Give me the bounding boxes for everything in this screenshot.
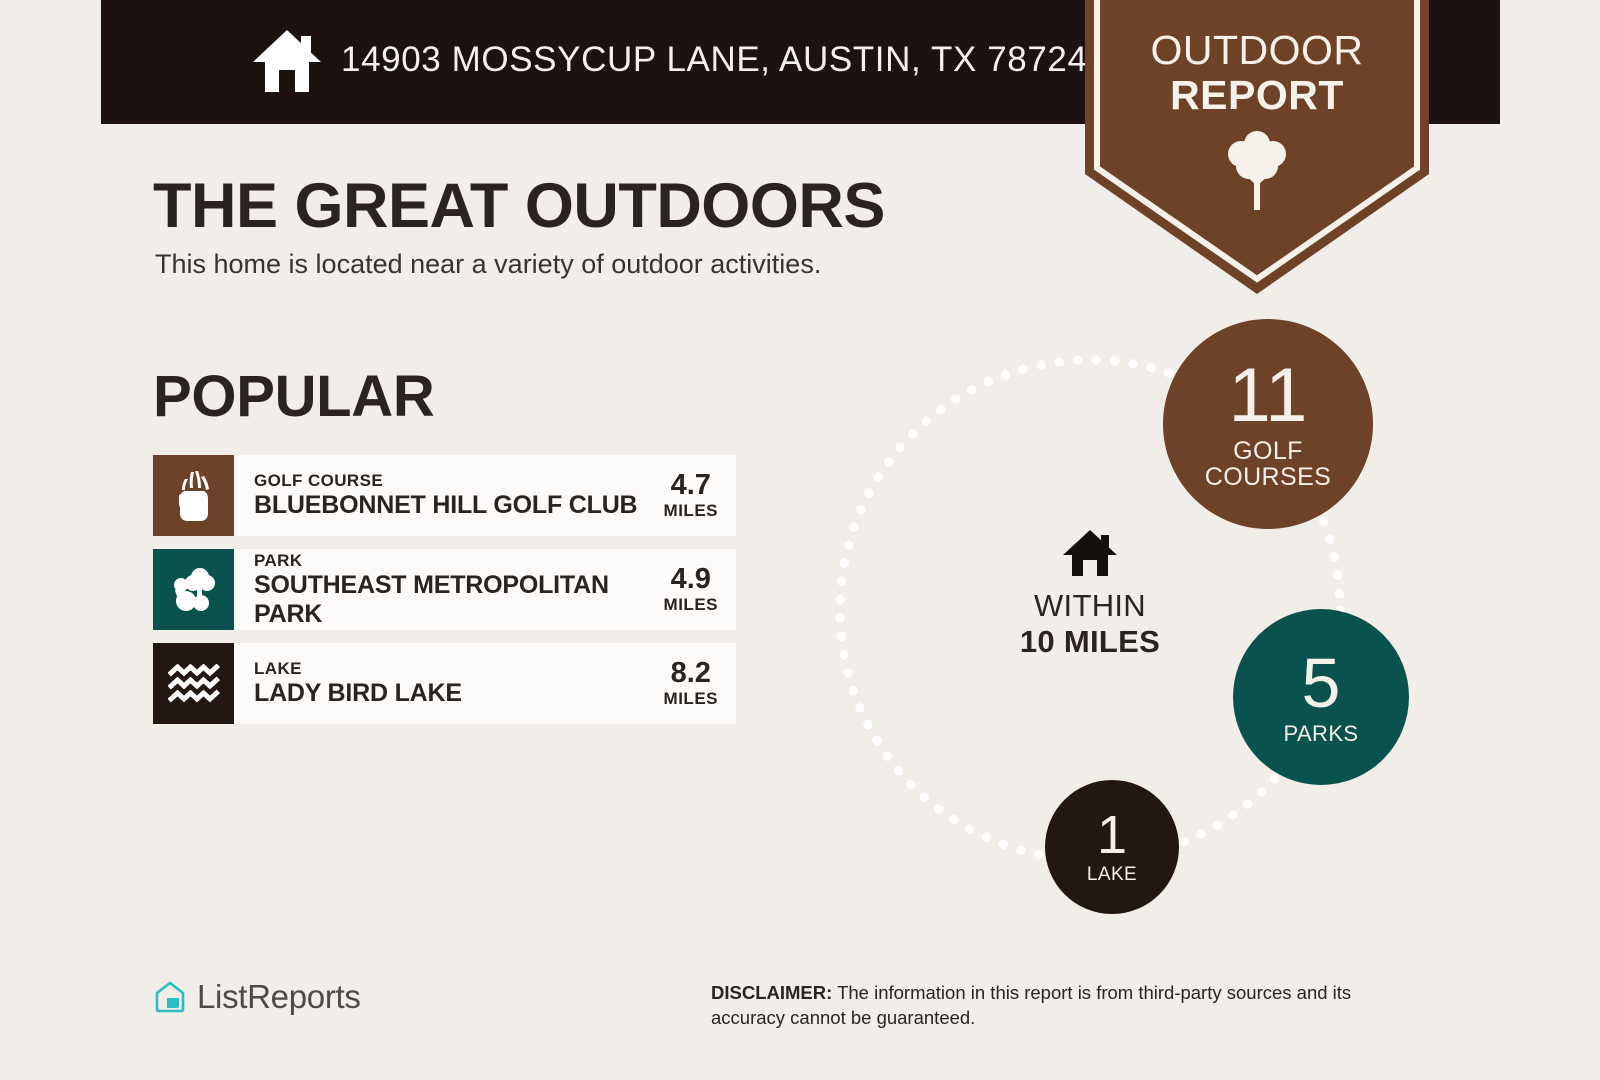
row-distance-unit: MILES bbox=[664, 501, 718, 521]
row-name: LADY BIRD LAKE bbox=[254, 679, 664, 708]
stat-label: PARKS bbox=[1284, 722, 1359, 745]
water-waves-icon bbox=[168, 664, 220, 704]
within-10-miles-diagram: WITHIN 10 MILES 11 GOLF COURSES 5 PARKS … bbox=[790, 300, 1430, 920]
house-icon bbox=[1061, 528, 1119, 578]
stat-count: 11 bbox=[1229, 358, 1308, 434]
row-distance-unit: MILES bbox=[664, 689, 718, 709]
row-category: LAKE bbox=[254, 659, 664, 679]
listreports-logo[interactable]: ListReports bbox=[153, 978, 361, 1016]
row-distance: 4.7 MILES bbox=[664, 455, 736, 536]
listreports-wordmark: ListReports bbox=[197, 978, 361, 1016]
stat-label-line-1: GOLF bbox=[1205, 438, 1331, 465]
row-category: GOLF COURSE bbox=[254, 471, 664, 491]
diagram-center-line-1: WITHIN bbox=[993, 588, 1187, 624]
page-title: THE GREAT OUTDOORS bbox=[153, 170, 885, 242]
listreports-house-icon bbox=[153, 980, 187, 1014]
left-margin bbox=[0, 0, 101, 1080]
stat-count: 5 bbox=[1302, 648, 1341, 718]
stat-label-line-2: COURSES bbox=[1205, 464, 1331, 491]
row-distance-value: 4.9 bbox=[671, 564, 711, 595]
disclaimer-label: DISCLAIMER: bbox=[711, 982, 832, 1003]
diagram-center-label: WITHIN 10 MILES bbox=[993, 528, 1187, 660]
outdoor-report-page: 14903 MOSSYCUP LANE, AUSTIN, TX 78724 OU… bbox=[0, 0, 1600, 1080]
row-distance-value: 4.7 bbox=[671, 470, 711, 501]
row-icon-tile bbox=[153, 549, 234, 630]
golf-bag-icon bbox=[171, 470, 217, 522]
row-icon-tile bbox=[153, 643, 234, 724]
row-distance-unit: MILES bbox=[664, 595, 718, 615]
row-distance: 8.2 MILES bbox=[664, 643, 736, 724]
list-item[interactable]: LAKE LADY BIRD LAKE 8.2 MILES bbox=[153, 643, 736, 724]
badge-line-1: OUTDOOR bbox=[1150, 27, 1363, 73]
list-item[interactable]: PARK SOUTHEAST METROPOLITAN PARK 4.9 MIL… bbox=[153, 549, 736, 630]
stat-count: 1 bbox=[1097, 808, 1127, 862]
tree-icon bbox=[1220, 128, 1294, 212]
list-item[interactable]: GOLF COURSE BLUEBONNET HILL GOLF CLUB 4.… bbox=[153, 455, 736, 536]
stat-label: GOLF COURSES bbox=[1205, 438, 1331, 491]
stat-circle-lake[interactable]: 1 LAKE bbox=[1045, 780, 1179, 914]
stat-label: LAKE bbox=[1087, 865, 1137, 885]
park-trees-icon bbox=[169, 567, 219, 613]
stat-circle-parks[interactable]: 5 PARKS bbox=[1233, 609, 1409, 785]
row-name: SOUTHEAST METROPOLITAN PARK bbox=[254, 571, 664, 629]
row-name: BLUEBONNET HILL GOLF CLUB bbox=[254, 491, 664, 520]
row-text: GOLF COURSE BLUEBONNET HILL GOLF CLUB bbox=[234, 455, 664, 536]
badge-title: OUTDOOR REPORT bbox=[1085, 28, 1429, 118]
house-icon bbox=[251, 26, 323, 96]
diagram-center-line-2: 10 MILES bbox=[993, 624, 1187, 660]
row-text: LAKE LADY BIRD LAKE bbox=[234, 643, 664, 724]
row-distance-value: 8.2 bbox=[671, 658, 711, 689]
property-address: 14903 MOSSYCUP LANE, AUSTIN, TX 78724 bbox=[341, 40, 1088, 80]
row-category: PARK bbox=[254, 551, 664, 571]
row-distance: 4.9 MILES bbox=[664, 549, 736, 630]
row-icon-tile bbox=[153, 455, 234, 536]
popular-list: GOLF COURSE BLUEBONNET HILL GOLF CLUB 4.… bbox=[153, 455, 736, 737]
popular-heading: POPULAR bbox=[153, 363, 434, 430]
page-subtitle: This home is located near a variety of o… bbox=[155, 249, 821, 280]
badge-line-2: REPORT bbox=[1085, 73, 1429, 118]
stat-circle-golf-courses[interactable]: 11 GOLF COURSES bbox=[1163, 319, 1373, 529]
outdoor-report-badge: OUTDOOR REPORT bbox=[1085, 0, 1429, 294]
row-text: PARK SOUTHEAST METROPOLITAN PARK bbox=[234, 549, 664, 630]
disclaimer: DISCLAIMER: The information in this repo… bbox=[711, 980, 1426, 1030]
